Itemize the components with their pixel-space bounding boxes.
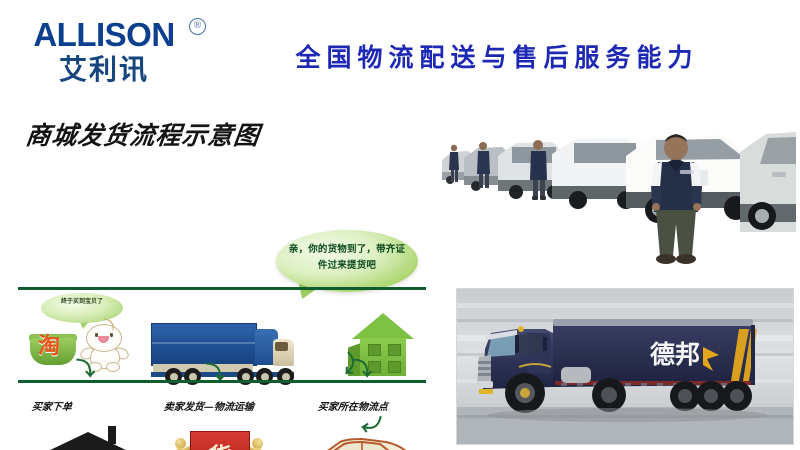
flow-row-divider [18,380,426,383]
carrier-figure-left [170,438,192,450]
buyer-speech-bubble: 终于买到宝贝了 [41,293,123,323]
logistics-point-speech-bubble: 亲，你的货物到了，带齐证件过来提货吧 [276,230,418,292]
cartoon-eye-right [110,333,113,337]
registered-trademark-icon: ® [189,18,206,35]
deppon-truck-photo: 德邦 [456,288,794,445]
cargo-carriers-icon: 货 [166,428,272,450]
house-window [368,344,381,356]
flow-caption-shipping: 卖家发货—物流运输 [163,398,255,413]
truck-trailer [151,323,257,366]
flow-arrow-down-icon: ⤵ [359,412,381,434]
flow-arrow-right-icon: ⤵ [353,360,372,379]
fleet-photo-svg [440,112,796,272]
basket-label: 淘 [38,328,60,360]
truck-brand-text: 德邦 [650,340,700,369]
buyer-home-icon [46,426,130,450]
shipping-flow-diagram: 商城发货流程示意图 亲，你的货物到了，带齐证件过来提货吧 终于买到宝贝了 淘 [8,108,433,413]
cartoon-foot-right [106,362,120,372]
cargo-box-label: 货 [191,437,249,450]
shopping-basket-icon: 淘 [30,326,76,366]
car-sketch-svg [304,433,420,450]
logo-chinese-name: 艾利讯 [26,54,182,86]
house-window [388,344,401,356]
house-roof [352,313,414,339]
truck-window [275,342,288,351]
service-fleet-photo [440,112,796,272]
page-title: 全国物流配送与售后服务能力 [232,38,762,74]
cargo-box: 货 [190,431,250,450]
flow-row-divider [18,287,426,290]
slide-canvas: ALLISON ® 艾利讯 全国物流配送与售后服务能力 商城发货流程示意图 亲，… [0,0,800,450]
flow-diagram-heading: 商城发货流程示意图 [24,116,262,152]
speech-bubble-text: 亲，你的货物到了，带齐证件过来提货吧 [286,242,408,274]
self-pickup-car-icon [304,433,420,450]
house-roof [46,432,130,450]
flow-caption-logistics-point: 买家所在物流点 [317,398,389,413]
logo-wordmark: ALLISON [26,18,182,52]
flow-arrow-right-icon: ⤵ [76,360,95,379]
company-logo: ALLISON ® 艾利讯 [26,18,206,90]
truck-photo-svg: 德邦 [457,289,793,444]
house-window [388,361,401,373]
flow-caption-order: 买家下单 [31,398,73,413]
trailer-stripe [152,342,256,344]
buyer-bubble-text: 终于买到宝贝了 [45,297,119,307]
